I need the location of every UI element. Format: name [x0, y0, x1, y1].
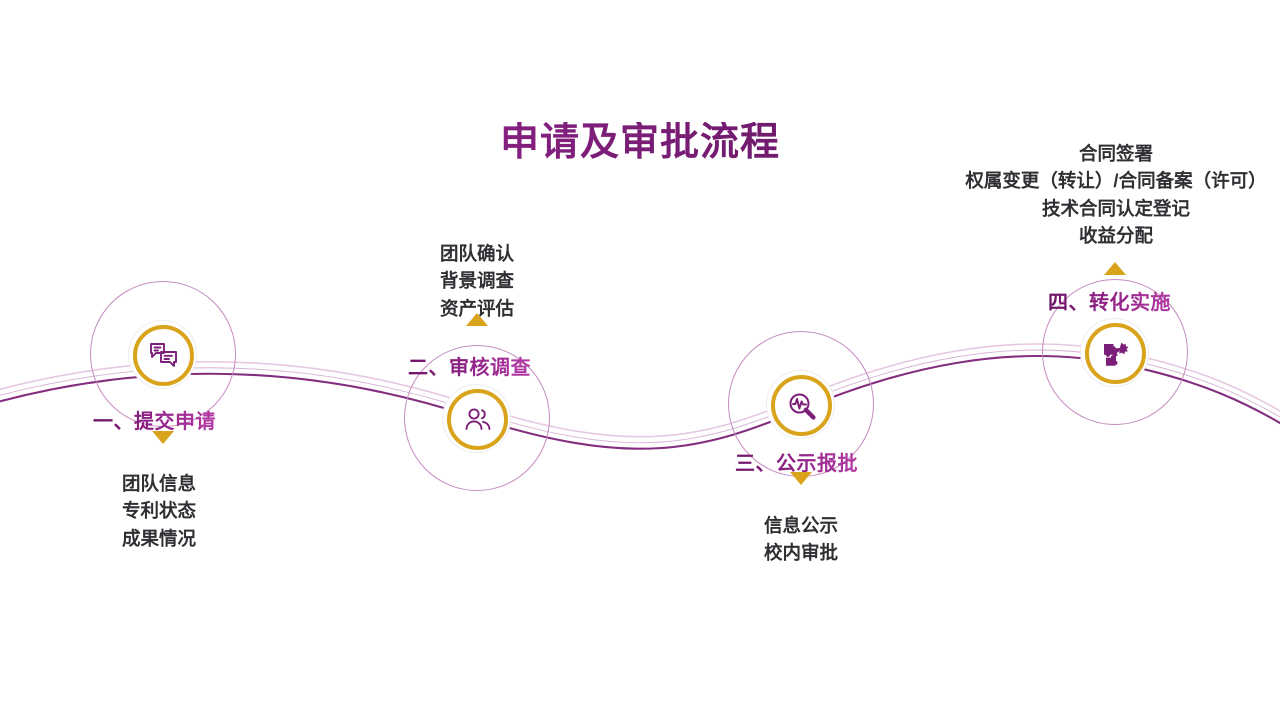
step-2-label: 二、审核调查: [408, 351, 531, 380]
step-4-icon-circle[interactable]: [1080, 318, 1149, 387]
step-3-detail-line: 信息公示: [690, 512, 912, 539]
magnifier-handle: [805, 409, 813, 417]
magnifier-pulse-icon: [785, 389, 819, 423]
step-4-triangle-up: [1104, 262, 1126, 275]
step-3-icon-circle[interactable]: [766, 370, 835, 439]
step-2-detail-line: 团队确认: [366, 240, 588, 267]
step-1-detail-line: 成果情况: [48, 525, 270, 552]
step-2-details: 团队确认 背景调查 资产评估: [366, 240, 588, 322]
step-4-detail-line: 合同签署: [906, 140, 1280, 167]
flow-diagram-canvas: 申请及审批流程: [0, 0, 1280, 720]
step-3-icon-ring: [771, 375, 832, 436]
step-4-detail-line: 技术合同认定登记: [906, 195, 1280, 222]
step-2-detail-line: 资产评估: [366, 295, 588, 322]
step-3-detail-line: 校内审批: [690, 539, 912, 566]
step-2-icon-ring: [447, 389, 508, 450]
step-4-detail-line: 收益分配: [906, 222, 1280, 249]
step-4-label: 四、转化实施: [1048, 286, 1171, 315]
step-3-triangle-down: [790, 472, 812, 485]
step-1-icon-circle[interactable]: [128, 320, 197, 389]
step-2-icon-circle[interactable]: [442, 384, 511, 453]
step-4-details: 合同签署 权属变更（转让）/合同备案（许可） 技术合同认定登记 收益分配: [906, 140, 1280, 250]
step-4-detail-line: 权属变更（转让）/合同备案（许可）: [906, 167, 1280, 194]
chat-bubbles-icon: [147, 339, 181, 373]
step-1-details: 团队信息 专利状态 成果情况: [48, 470, 270, 552]
users-icon: [461, 403, 495, 437]
step-4-icon-ring: [1085, 323, 1146, 384]
step-1-label: 一、提交申请: [93, 405, 216, 434]
step-1-detail-line: 专利状态: [48, 497, 270, 524]
puzzle-pieces-icon: [1099, 337, 1133, 371]
step-1-icon-ring: [133, 325, 194, 386]
step-2-detail-line: 背景调查: [366, 267, 588, 294]
step-1-triangle-down: [152, 431, 174, 444]
step-3-details: 信息公示 校内审批: [690, 512, 912, 567]
step-1-detail-line: 团队信息: [48, 470, 270, 497]
